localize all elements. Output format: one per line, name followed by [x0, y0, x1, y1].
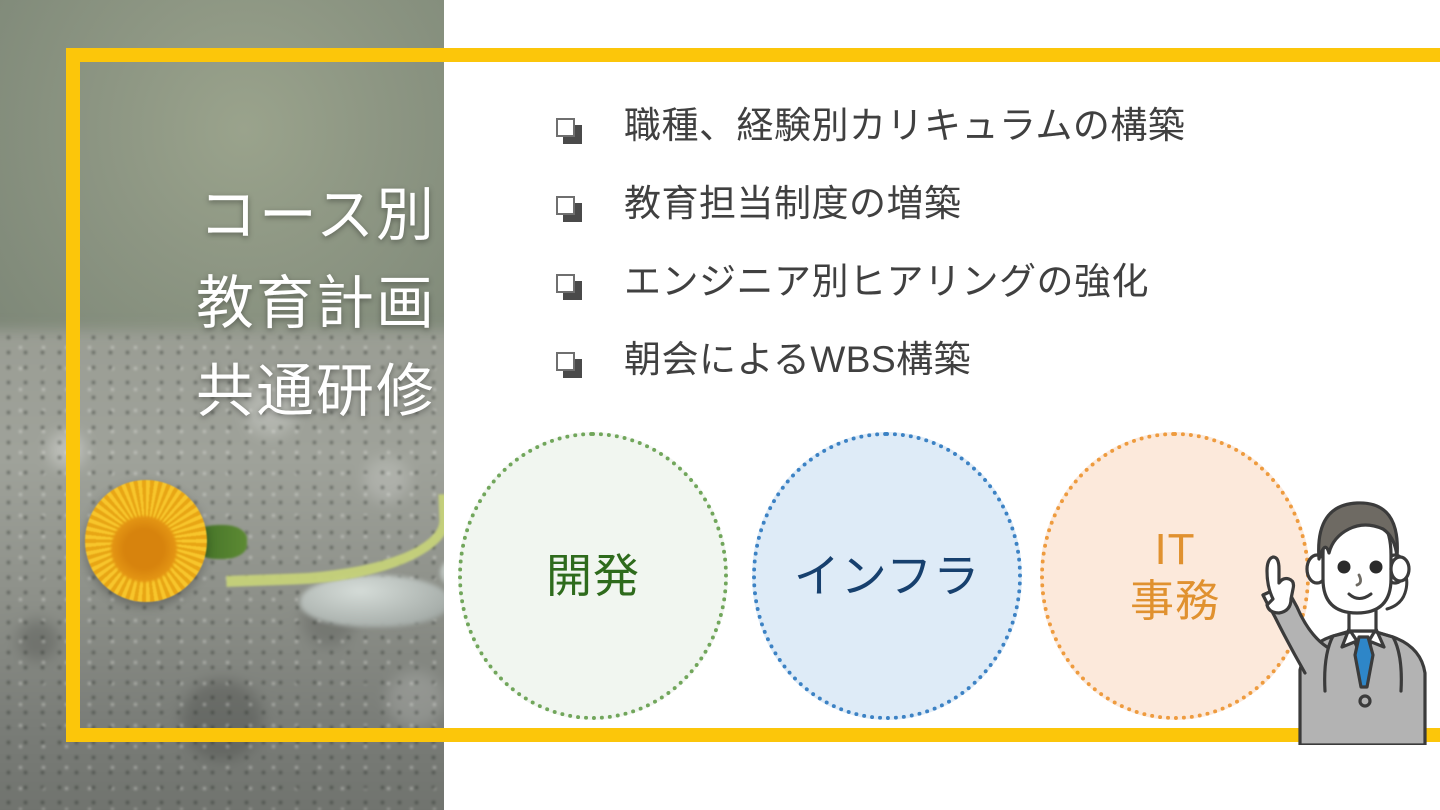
flower-stem: [224, 494, 444, 587]
list-item-label: 職種、経験別カリキュラムの構築: [624, 104, 1185, 148]
flower-center: [111, 516, 177, 582]
dandelion-flower: [85, 470, 415, 620]
category-label: 開発: [546, 548, 640, 604]
frame-top-bar: [66, 48, 1440, 62]
list-item: 教育担当制度の増築: [556, 182, 1356, 260]
slide-canvas: コース別 教育計画 共通研修 職種、経験別カリキュラムの構築 教育担当制度の増築…: [0, 0, 1440, 810]
businessman-pointing-up-illustration: [1245, 495, 1440, 745]
category-circle-development: 開発: [458, 432, 728, 720]
category-label-secondary: 事務: [1130, 576, 1220, 628]
list-item-label: エンジニア別ヒアリングの強化: [624, 260, 1149, 304]
bullet-list: 職種、経験別カリキュラムの構築 教育担当制度の増築 エンジニア別ヒアリングの強化…: [556, 104, 1356, 416]
frame-bottom-bar: [66, 728, 1440, 742]
category-label: インフラ: [794, 548, 981, 604]
list-item: 朝会によるWBS構築: [556, 338, 1356, 416]
flower-petals: [85, 480, 207, 602]
title-line-1: コース別: [96, 172, 436, 260]
frame-left-bar: [66, 48, 80, 742]
rock-large: [300, 575, 444, 627]
list-item: 職種、経験別カリキュラムの構築: [556, 104, 1356, 182]
square-bullet-icon: [556, 352, 582, 378]
title-line-2: 教育計画: [96, 260, 436, 348]
category-circle-infrastructure: インフラ: [752, 432, 1022, 720]
page-title: コース別 教育計画 共通研修: [96, 172, 436, 436]
square-bullet-icon: [556, 274, 582, 300]
list-item-label: 朝会によるWBS構築: [624, 338, 971, 382]
category-label: IT: [1130, 524, 1220, 576]
list-item-label: 教育担当制度の増築: [624, 182, 962, 226]
square-bullet-icon: [556, 196, 582, 222]
title-line-3: 共通研修: [96, 348, 436, 436]
square-bullet-icon: [556, 118, 582, 144]
list-item: エンジニア別ヒアリングの強化: [556, 260, 1356, 338]
